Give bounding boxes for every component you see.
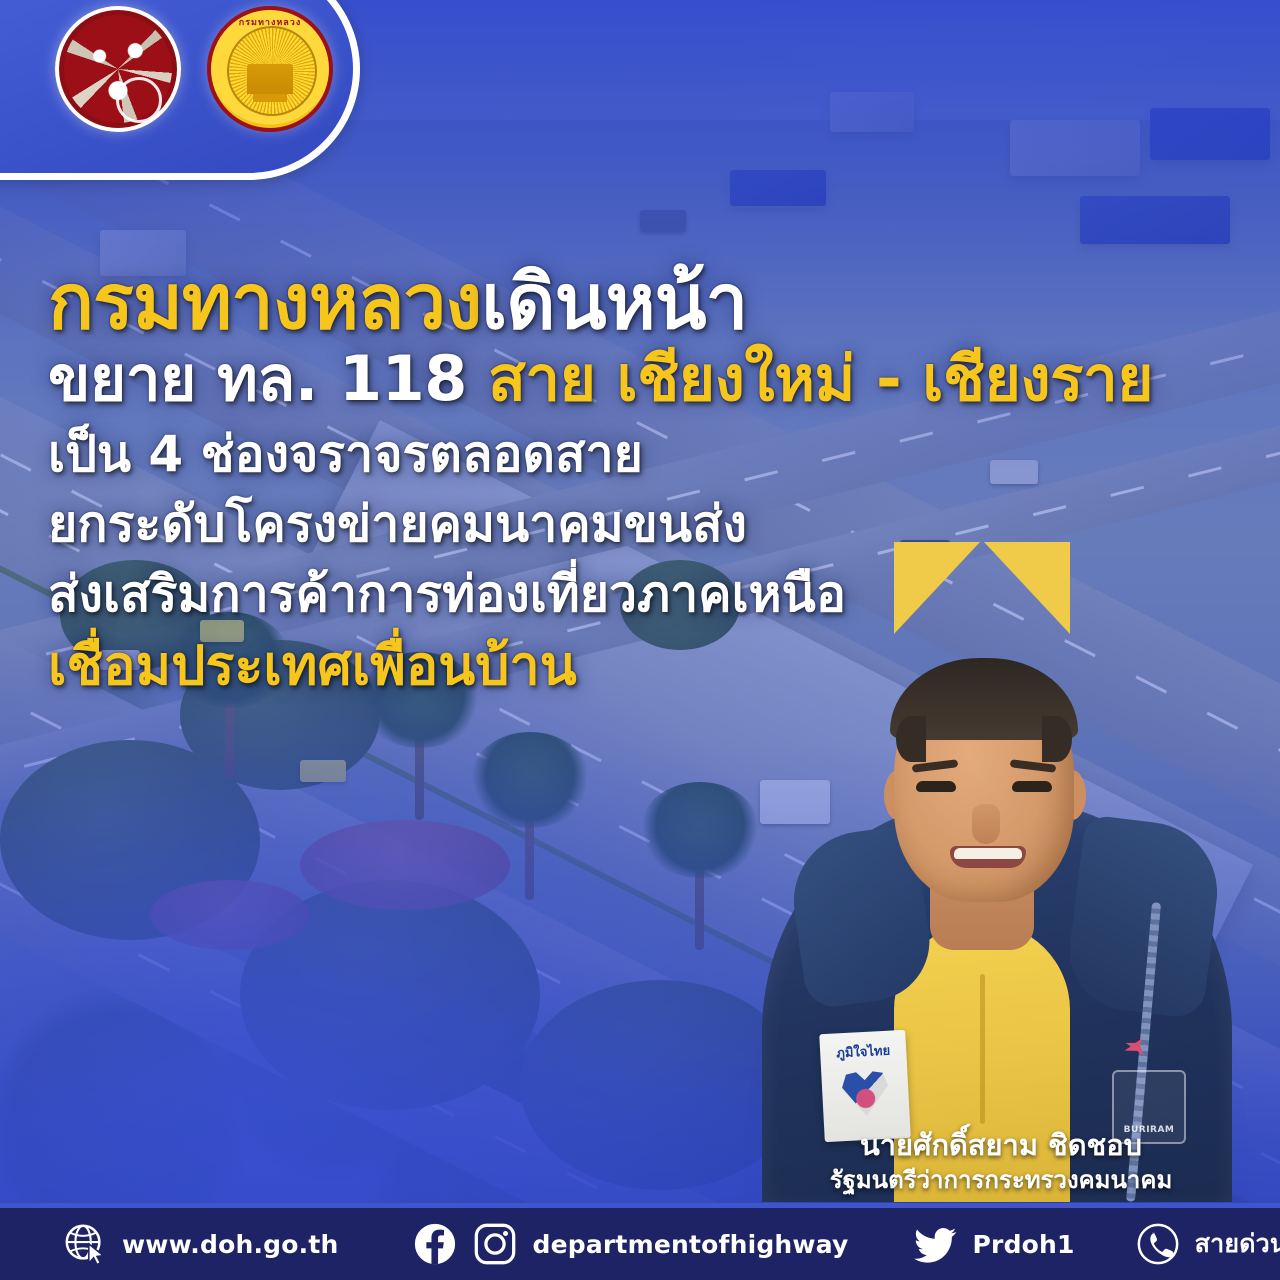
headline-line-1-white: เดินหน้า xyxy=(481,257,747,346)
footer-social-label: departmentofhighway xyxy=(532,1230,848,1259)
minister-role: รัฐมนตรีว่าการกระทรวงคมนาคม xyxy=(786,1164,1216,1196)
minister-name: นายศักดิ์สยาม ชิดชอบ xyxy=(786,1127,1216,1163)
footer-social-accounts[interactable]: departmentofhighway xyxy=(412,1221,848,1267)
headline-line-6: เชื่อมประเทศเพื่อนบ้าน xyxy=(48,638,1228,694)
party-badge-label: ภูมิใจไทย xyxy=(820,1039,907,1064)
headline-line-1-gold: กรมทางหลวง xyxy=(48,257,481,346)
minister-caption: นายศักดิ์สยาม ชิดชอบ รัฐมนตรีว่าการกระทร… xyxy=(786,1127,1216,1196)
instagram-icon xyxy=(472,1221,518,1267)
department-of-highways-seal-icon: กรมทางหลวง xyxy=(207,6,333,132)
logo-capsule: กรมทางหลวง xyxy=(0,0,360,180)
footer-hotline[interactable]: สายด่วน 1586 xyxy=(1135,1221,1280,1267)
portrait-nose xyxy=(972,804,1000,844)
phone-icon xyxy=(1135,1221,1181,1267)
footer-twitter-label: Prdoh1 xyxy=(973,1230,1075,1259)
headline-line-4: ยกระดับโครงข่ายคมนาคมขนส่ง xyxy=(48,498,1228,550)
facebook-icon xyxy=(412,1221,458,1267)
footer-website[interactable]: www.doh.go.th xyxy=(62,1221,338,1267)
party-badge: ภูมิใจไทย xyxy=(819,1030,911,1142)
portrait-eye-right xyxy=(1012,781,1052,792)
poster-canvas: กรมทางหลวง กรมทางหลวงเดินหน้า ขยาย ทล. 1… xyxy=(0,0,1280,1280)
twitter-icon xyxy=(913,1221,959,1267)
headline-line-5: ส่งเสริมการค้าการท่องเที่ยวภาคเหนือ xyxy=(48,568,1228,620)
footer-bar: www.doh.go.th departmentofhighway Prdoh1 xyxy=(0,1203,1280,1280)
footer-website-label: www.doh.go.th xyxy=(122,1230,338,1259)
headline-line-2-white: ขยาย ทล. 118 xyxy=(48,342,488,415)
footer-hotline-label: สายด่วน 1586 xyxy=(1195,1224,1280,1264)
headline-line-2-gold: สาย เชียงใหม่ - เชียงราย xyxy=(488,342,1153,415)
headline-line-3: เป็น 4 ช่องจราจรตลอดสาย xyxy=(48,428,1228,480)
globe-cursor-icon xyxy=(62,1221,108,1267)
royal-garuda-seal-icon xyxy=(55,6,181,132)
headline-line-2: ขยาย ทล. 118 สาย เชียงใหม่ - เชียงราย xyxy=(48,347,1228,411)
portrait-eye-left xyxy=(916,781,956,792)
portrait-mouth xyxy=(950,846,1026,868)
headline-line-1: กรมทางหลวงเดินหน้า xyxy=(48,262,1228,341)
party-heart-icon xyxy=(841,1069,889,1117)
seal-caption: กรมทางหลวง xyxy=(211,15,329,29)
headline-block: กรมทางหลวงเดินหน้า ขยาย ทล. 118 สาย เชีย… xyxy=(48,262,1228,694)
footer-twitter[interactable]: Prdoh1 xyxy=(913,1221,1075,1267)
